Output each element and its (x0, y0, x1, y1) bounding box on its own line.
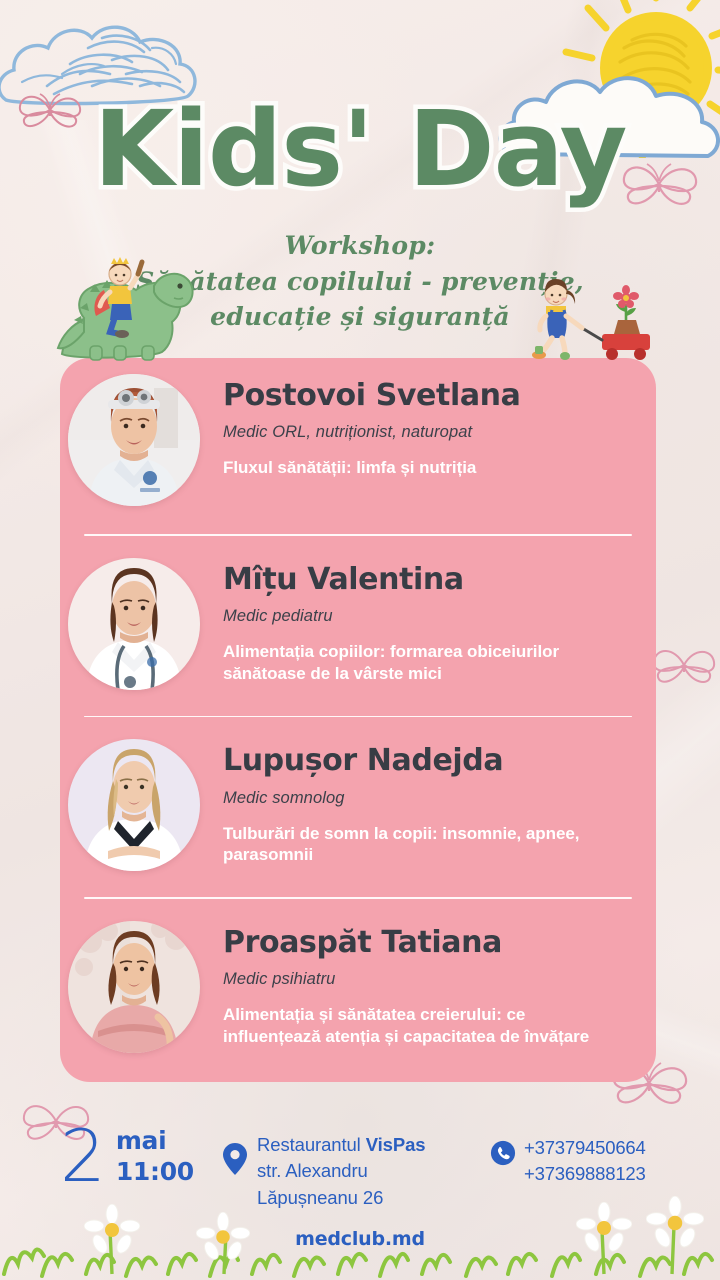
location-venue: VisPas (366, 1134, 426, 1155)
poster-title: Kids' Day (0, 96, 720, 202)
speaker-name: Lupușor Nadejda (223, 745, 640, 777)
speaker-name: Mîțu Valentina (223, 564, 640, 596)
speaker-role: Medic pediatru (223, 607, 640, 626)
speaker-topic: Alimentația copiilor: formarea obiceiuri… (223, 641, 608, 685)
speaker-topic: Tulburări de somn la copii: insomnie, ap… (223, 823, 608, 867)
poster-subtitle: Workshop: Sănătatea copilului - prevenți… (0, 228, 720, 335)
event-time: 11:00 (116, 1157, 194, 1188)
speaker-role: Medic psihiatru (223, 970, 640, 989)
contact-phone-block[interactable]: +37379450664 +37369888123 (490, 1126, 646, 1186)
location-venue-line: Restaurantul VisPas (257, 1132, 426, 1158)
avatar-lupusor-nadejda (68, 739, 200, 871)
footer: 2 mai 11:00 Restaurantul VisPas str. Ale… (0, 1126, 720, 1211)
speaker-topic: Alimentația și sănătatea creierului: ce … (223, 1004, 598, 1048)
subtitle-line-3: educație și siguranță (0, 299, 720, 335)
location-pin-icon (222, 1142, 248, 1176)
phone-icon (490, 1139, 516, 1167)
location-prefix: Restaurantul (257, 1134, 366, 1155)
avatar-postovoi-svetlana (68, 374, 200, 506)
event-date-block: 2 mai 11:00 (22, 1126, 222, 1187)
speaker-role: Medic ORL, nutriționist, naturopat (223, 423, 640, 442)
speaker-row: Mîțu Valentina Medic pediatru Alimentați… (60, 536, 656, 690)
event-month: mai (116, 1126, 194, 1157)
speaker-info: Postovoi Svetlana Medic ORL, nutriționis… (200, 374, 640, 479)
speaker-topic: Fluxul sănătății: limfa și nutriția (223, 457, 640, 479)
speaker-row: Lupușor Nadejda Medic somnolog Tulburări… (60, 717, 656, 871)
speakers-card: Postovoi Svetlana Medic ORL, nutriționis… (60, 358, 656, 1082)
poster-title-wrap: Kids' Day (0, 96, 720, 202)
location-street-line: str. Alexandru (257, 1158, 426, 1184)
event-day: 2 (60, 1127, 104, 1186)
avatar-mitu-valentina (68, 558, 200, 690)
speaker-info: Lupușor Nadejda Medic somnolog Tulburări… (200, 739, 640, 866)
phone-number-2[interactable]: +37369888123 (524, 1161, 646, 1187)
subtitle-line-2: Sănătatea copilului - prevenție, (0, 264, 720, 300)
butterfly-icon (648, 636, 720, 698)
speaker-role: Medic somnolog (223, 789, 640, 808)
location-street-line-2: Lăpușneanu 26 (257, 1185, 426, 1211)
avatar-proaspat-tatiana (68, 921, 200, 1053)
event-location-block: Restaurantul VisPas str. Alexandru Lăpuș… (222, 1126, 490, 1211)
speaker-row: Proaspăt Tatiana Medic psihiatru Aliment… (60, 899, 656, 1053)
website-label[interactable]: medclub.md (0, 1228, 720, 1250)
speaker-name: Proaspăt Tatiana (223, 927, 640, 959)
poster-root: Kids' Day Workshop: Sănătatea copilului … (0, 0, 720, 1280)
speaker-row: Postovoi Svetlana Medic ORL, nutriționis… (60, 358, 656, 506)
speaker-info: Proaspăt Tatiana Medic psihiatru Aliment… (200, 921, 640, 1048)
phone-number-1[interactable]: +37379450664 (524, 1135, 646, 1161)
subtitle-line-1: Workshop: (0, 228, 720, 264)
speaker-info: Mîțu Valentina Medic pediatru Alimentați… (200, 558, 640, 685)
speaker-name: Postovoi Svetlana (223, 380, 640, 412)
